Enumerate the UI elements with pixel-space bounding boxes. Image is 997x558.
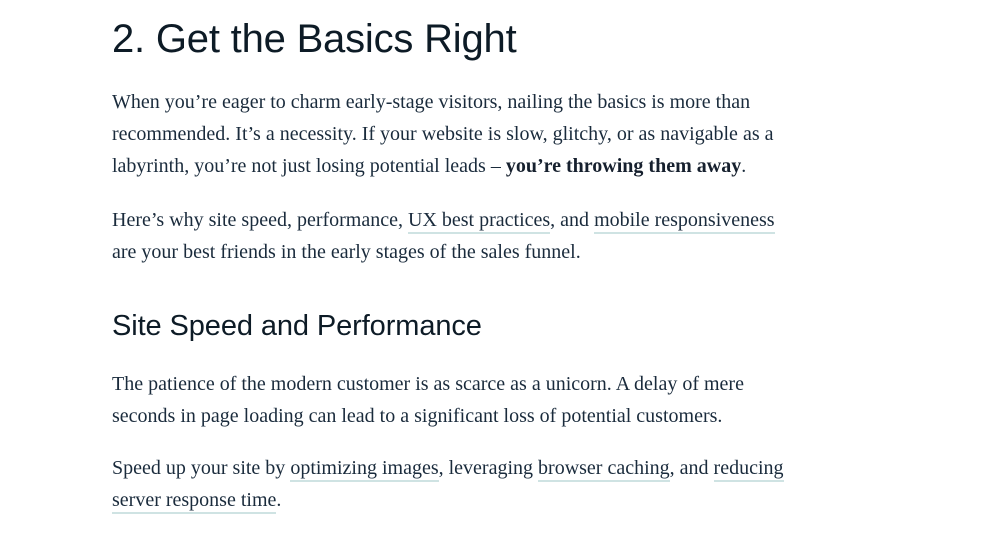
subsection-paragraph-1: The patience of the modern customer is a…: [112, 346, 795, 432]
paragraph-text-part-4: .: [276, 489, 281, 511]
paragraph-text-part-3: , and: [670, 457, 714, 479]
section-paragraph-2: Here’s why site speed, performance, UX b…: [112, 182, 795, 268]
link-ux-best-practices[interactable]: UX best practices: [408, 209, 550, 234]
link-browser-caching[interactable]: browser caching: [538, 457, 670, 482]
paragraph-text-part-3: are your best friends in the early stage…: [112, 241, 581, 263]
paragraph-text-part-2: .: [741, 155, 746, 177]
section-heading: 2. Get the Basics Right: [112, 0, 795, 64]
paragraph-text-part-2: , leveraging: [439, 457, 538, 479]
link-mobile-responsiveness[interactable]: mobile responsiveness: [594, 209, 775, 234]
paragraph-text-part-1: Speed up your site by: [112, 457, 290, 479]
section-paragraph-1: When you’re eager to charm early-stage v…: [112, 64, 795, 182]
subsection-heading: Site Speed and Performance: [112, 268, 795, 346]
emphasis-text: you’re throwing them away: [506, 155, 741, 177]
link-optimizing-images[interactable]: optimizing images: [290, 457, 438, 482]
subsection-paragraph-2: Speed up your site by optimizing images,…: [112, 432, 795, 516]
paragraph-text-part-1: Here’s why site speed, performance,: [112, 209, 408, 231]
article-content: 2. Get the Basics Right When you’re eage…: [112, 0, 795, 516]
paragraph-text-part-2: , and: [550, 209, 594, 231]
